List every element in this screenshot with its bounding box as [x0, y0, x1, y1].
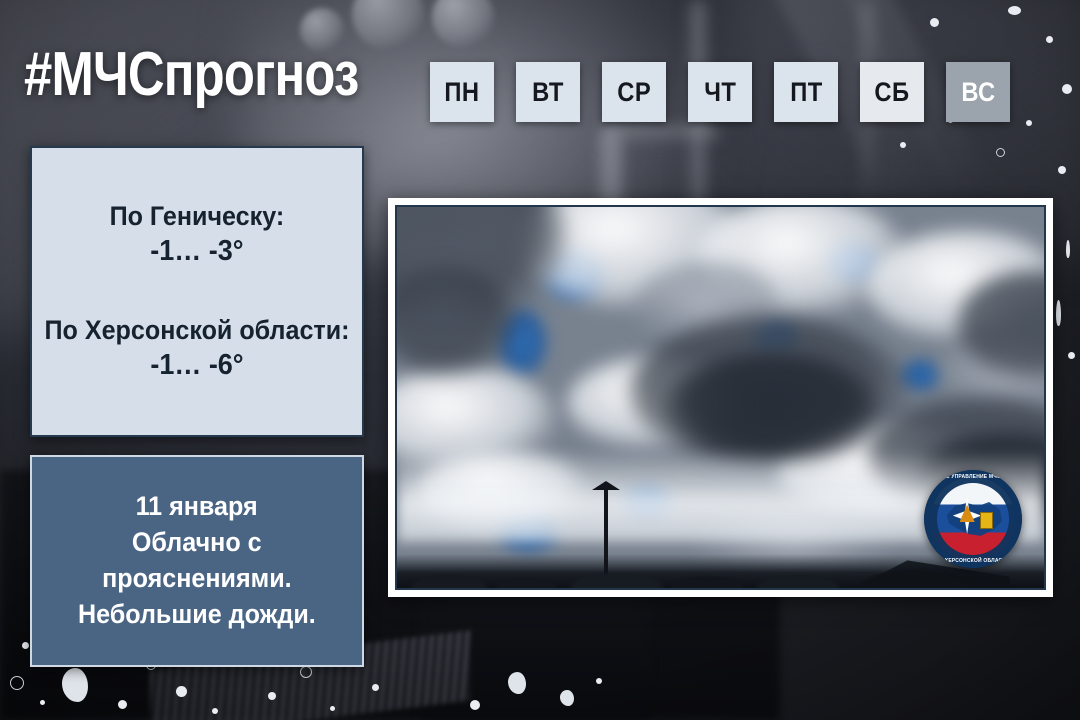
day-label-tue: ВТ	[532, 77, 564, 108]
emblem-text-ring	[924, 470, 1022, 568]
splatter-drop-16	[1058, 166, 1066, 174]
splatter-blob-2	[508, 672, 526, 694]
day-button-mon[interactable]: ПН	[430, 62, 494, 122]
splatter-drop-14	[1062, 84, 1072, 94]
forecast-date: 11 января	[136, 489, 258, 525]
temperature-region-value: -1… -6°	[44, 347, 349, 383]
page-title: #МЧСпрогноз	[24, 44, 358, 106]
splatter-drop-11	[930, 18, 939, 27]
splatter-drop-15	[1026, 120, 1032, 126]
splatter-drop-17	[1068, 352, 1075, 359]
splatter-streak-3	[1056, 300, 1061, 326]
temperature-city-value: -1… -3°	[110, 233, 285, 269]
splatter-drop-7	[330, 706, 335, 711]
forecast-panel: 11 января Облачно с прояснениями. Неболь…	[30, 455, 364, 667]
temperature-region-group: По Херсонской области: -1… -6°	[33, 314, 361, 384]
splatter-drop-9	[470, 700, 480, 710]
splatter-drop-8	[372, 684, 379, 691]
splatter-drop-19	[900, 142, 906, 148]
splatter-drop-3	[118, 700, 127, 709]
splatter-drop-10	[596, 678, 602, 684]
emblem-bottom-text: по ХЕРСОНСКОЙ ОБЛАСТИ	[924, 558, 1022, 564]
splatter-drop-13	[1046, 36, 1053, 43]
splatter-drop-12	[1008, 6, 1021, 15]
splatter-drop-6	[268, 692, 276, 700]
splatter-ring-5	[996, 148, 1005, 157]
day-button-tue[interactable]: ВТ	[516, 62, 580, 122]
temperature-city-group: По Геническу: -1… -3°	[103, 200, 291, 270]
temperature-city-label: По Геническу:	[110, 200, 285, 234]
weekday-selector: ПН ВТ СР ЧТ ПТ СБ ВС	[430, 62, 1010, 122]
day-label-fri: ПТ	[790, 77, 822, 108]
forecast-line-2: прояснениями.	[102, 561, 292, 597]
temperature-region-label: По Херсонской области:	[44, 314, 349, 348]
day-label-wed: СР	[617, 77, 651, 108]
weather-photo: ГЛАВНОЕ УПРАВЛЕНИЕ МЧС РОССИИ по ХЕРСОНС…	[395, 205, 1046, 590]
splatter-ring-3	[300, 666, 312, 678]
mchs-emblem: ГЛАВНОЕ УПРАВЛЕНИЕ МЧС РОССИИ по ХЕРСОНС…	[924, 470, 1022, 568]
splatter-drop-1	[22, 642, 29, 649]
day-button-thu[interactable]: ЧТ	[688, 62, 752, 122]
emblem-top-text: ГЛАВНОЕ УПРАВЛЕНИЕ МЧС РОССИИ	[924, 474, 1022, 480]
splatter-drop-4	[176, 686, 187, 697]
day-label-mon: ПН	[444, 77, 479, 108]
day-button-sun[interactable]: ВС	[946, 62, 1010, 122]
splatter-ring-1	[10, 676, 24, 690]
day-button-wed[interactable]: СР	[602, 62, 666, 122]
splatter-blob-1	[62, 668, 88, 702]
day-label-sun: ВС	[961, 77, 995, 108]
day-button-sat[interactable]: СБ	[860, 62, 924, 122]
splatter-streak-2	[1066, 240, 1070, 258]
temperature-panel: По Геническу: -1… -3° По Херсонской обла…	[30, 146, 364, 437]
cloud-deep-1	[667, 353, 877, 463]
forecast-line-3: Небольшие дожди.	[78, 597, 316, 633]
splatter-blob-3	[560, 690, 574, 706]
day-label-sat: СБ	[874, 77, 909, 108]
day-label-thu: ЧТ	[704, 77, 736, 108]
weather-photo-frame: ГЛАВНОЕ УПРАВЛЕНИЕ МЧС РОССИИ по ХЕРСОНС…	[388, 198, 1053, 597]
splatter-drop-2	[40, 700, 45, 705]
day-button-fri[interactable]: ПТ	[774, 62, 838, 122]
forecast-line-1: Облачно с	[132, 525, 262, 561]
splatter-drop-5	[212, 708, 218, 714]
